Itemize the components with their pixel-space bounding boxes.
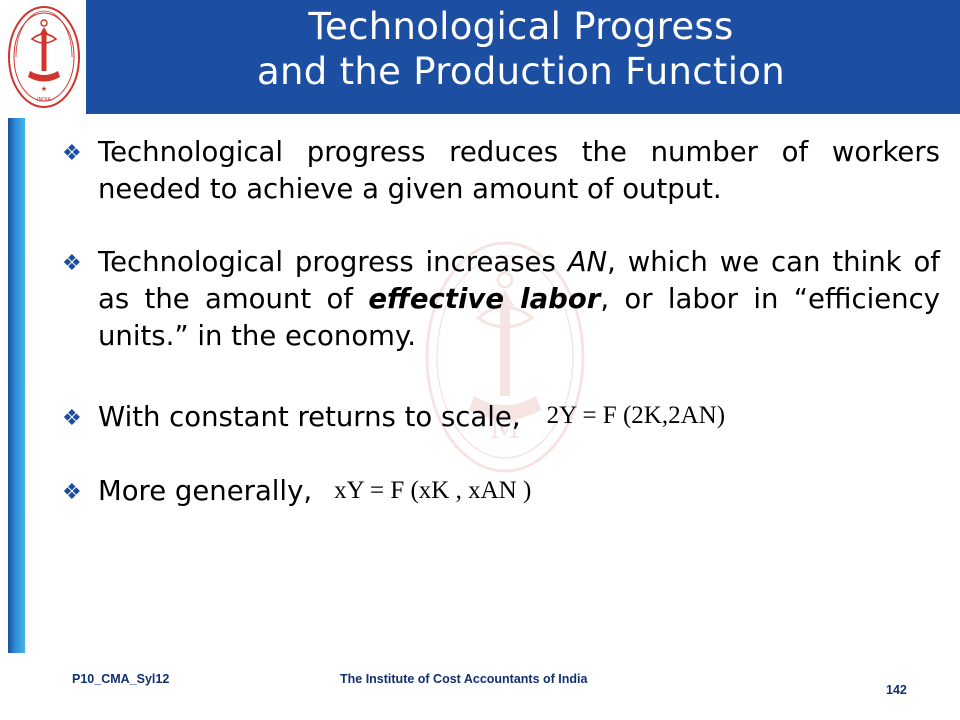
bullet-1-text: Technological progress reduces the numbe… xyxy=(98,136,940,205)
formula-general: xY = F (xK , xAN ) xyxy=(334,472,531,509)
bullet-3-text: With constant returns to scale, xyxy=(98,399,521,436)
bullet-marker-icon: ❖ xyxy=(62,247,82,280)
slide-body: ❖ Technological progress reduces the num… xyxy=(56,130,940,529)
bullet-3: ❖ With constant returns to scale, 2Y = F… xyxy=(56,399,940,437)
bullet-2-italic-term: AN xyxy=(568,246,607,278)
formula-constant-returns: 2Y = F (2K,2AN) xyxy=(547,397,725,434)
bullet-2: ❖ Technological progress increases AN, w… xyxy=(56,244,940,355)
left-accent-strip xyxy=(8,118,25,653)
bullet-4-text: More generally, xyxy=(98,473,312,510)
bullet-3-row: With constant returns to scale, 2Y = F (… xyxy=(98,399,940,437)
bullet-4-row: More generally, xY = F (xK , xAN ) xyxy=(98,473,940,511)
bullet-marker-icon: ❖ xyxy=(62,137,82,170)
slide-title: Technological Progress and the Productio… xyxy=(90,4,952,94)
bullet-marker-icon: ❖ xyxy=(62,476,82,509)
footer-course-code: P10_CMA_Syl12 xyxy=(72,672,169,686)
slide: ★ INDIA Technological Progress and the P… xyxy=(0,0,960,720)
bullet-1: ❖ Technological progress reduces the num… xyxy=(56,134,940,208)
footer-institute-name: The Institute of Cost Accountants of Ind… xyxy=(340,672,587,686)
institute-logo-icon: ★ INDIA xyxy=(6,5,82,110)
slide-title-line1: Technological Progress xyxy=(90,4,952,49)
bullet-2-bold-term: effective labor xyxy=(368,283,600,315)
bullet-marker-icon: ❖ xyxy=(62,402,82,435)
footer-page-number: 142 xyxy=(886,683,907,697)
svg-text:INDIA: INDIA xyxy=(37,97,52,103)
svg-text:★: ★ xyxy=(41,85,47,93)
bullet-4: ❖ More generally, xY = F (xK , xAN ) xyxy=(56,473,940,511)
slide-title-line2: and the Production Function xyxy=(90,49,952,94)
bullet-2-lead: Technological progress increases xyxy=(98,246,568,278)
